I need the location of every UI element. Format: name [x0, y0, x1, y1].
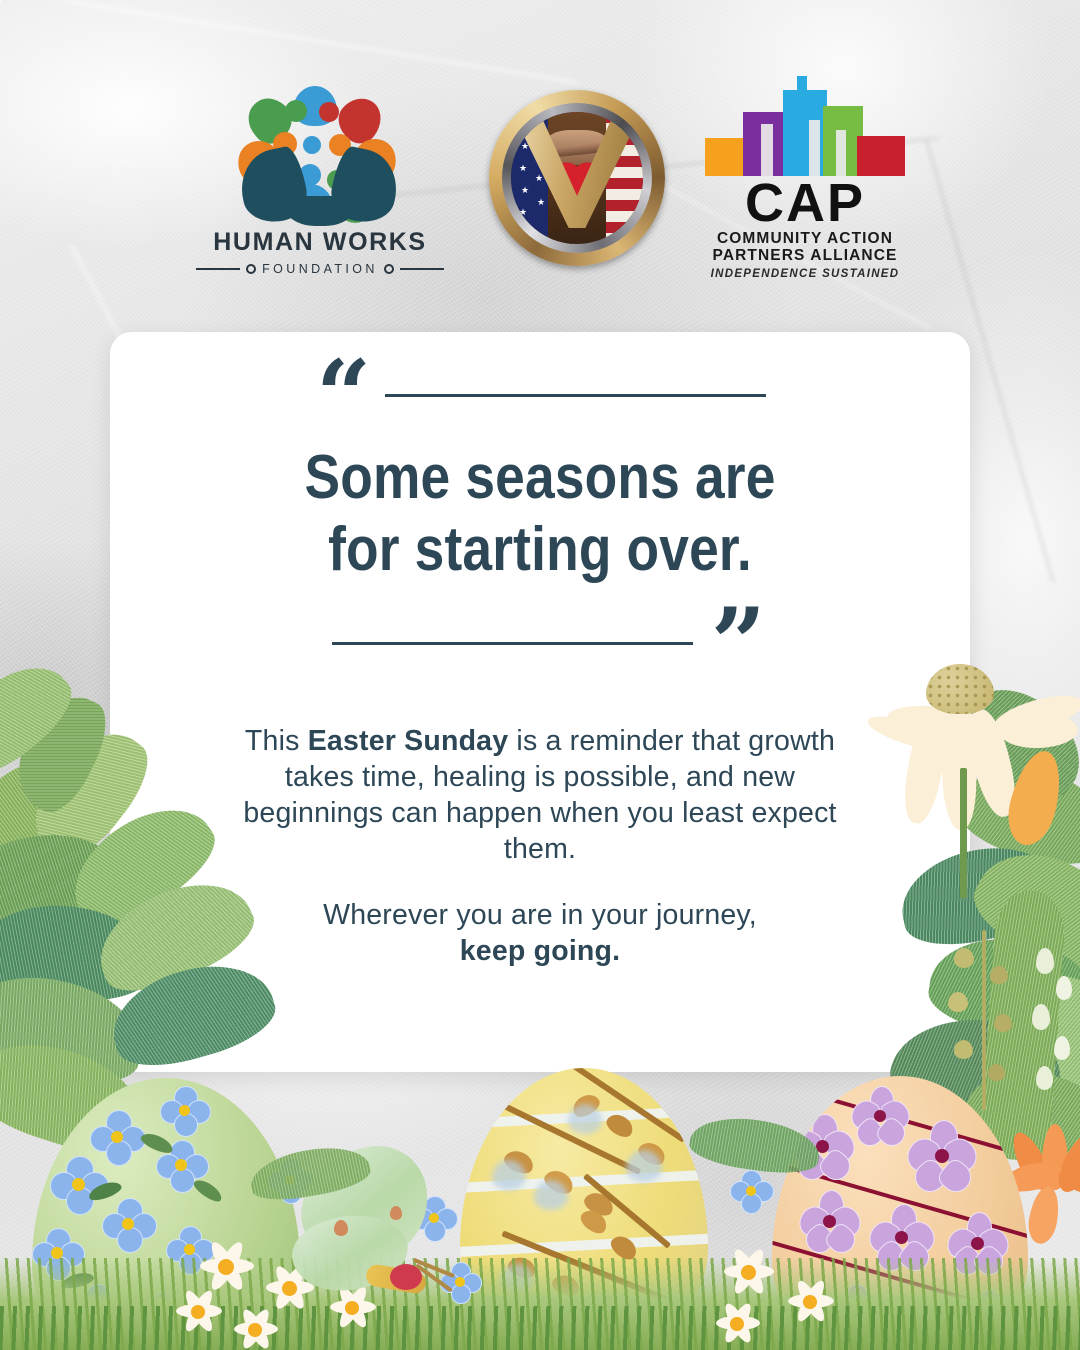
divider-dot-left	[246, 264, 256, 274]
divider-line-left	[196, 268, 240, 270]
divider-line-right	[400, 268, 444, 270]
cap-skyline-icon	[705, 90, 905, 176]
human-works-title: HUMAN WORKS	[196, 228, 444, 257]
medallion-face-icon: ★ ★ ★ ★ ★ ★ ★ ★ ★	[511, 112, 643, 244]
quote-rule-top	[385, 394, 766, 397]
body-copy: This Easter Sunday is a reminder that gr…	[230, 724, 850, 969]
logo-row: HUMAN WORKS FOUNDATION ★ ★ ★ ★ ★ ★	[0, 84, 1080, 284]
body-paragraph-2: Wherever you are in your journey,keep go…	[230, 898, 850, 970]
quote-line-2: for starting over.	[170, 514, 910, 586]
body-p2-pre: Wherever you are in your journey,	[323, 899, 757, 931]
logo-cap[interactable]: CAP COMMUNITY ACTION PARTNERS ALLIANCE I…	[700, 90, 910, 280]
cap-line1: COMMUNITY ACTION	[700, 230, 910, 248]
cap-tagline: INDEPENDENCE SUSTAINED	[700, 268, 910, 280]
quote-line-1: Some seasons are	[170, 442, 910, 514]
logo-veteran-medallion[interactable]: ★ ★ ★ ★ ★ ★ ★ ★ ★	[489, 90, 665, 266]
human-works-subtitle: FOUNDATION	[262, 262, 378, 276]
body-p1-pre: This	[245, 725, 308, 757]
logo-human-works-foundation[interactable]: HUMAN WORKS FOUNDATION	[196, 84, 444, 276]
quote-rule-bottom	[332, 642, 693, 645]
human-works-subtitle-row: FOUNDATION	[196, 262, 444, 276]
quote-open-row: “	[316, 394, 766, 397]
quote-card: “ Some seasons are for starting over. ” …	[110, 332, 970, 1072]
divider-dot-right	[384, 264, 394, 274]
poster-canvas: HUMAN WORKS FOUNDATION ★ ★ ★ ★ ★ ★	[0, 0, 1080, 1350]
cap-title: CAP	[700, 178, 910, 230]
body-p1-emphasis: Easter Sunday	[308, 725, 509, 757]
body-paragraph-1: This Easter Sunday is a reminder that gr…	[230, 724, 850, 868]
human-works-mark-icon	[235, 84, 405, 224]
cap-line2: PARTNERS ALLIANCE	[700, 247, 910, 265]
quote-text: Some seasons are for starting over.	[170, 442, 910, 586]
quote-close-row: ”	[332, 642, 762, 645]
body-p2-emphasis: keep going.	[460, 935, 621, 967]
